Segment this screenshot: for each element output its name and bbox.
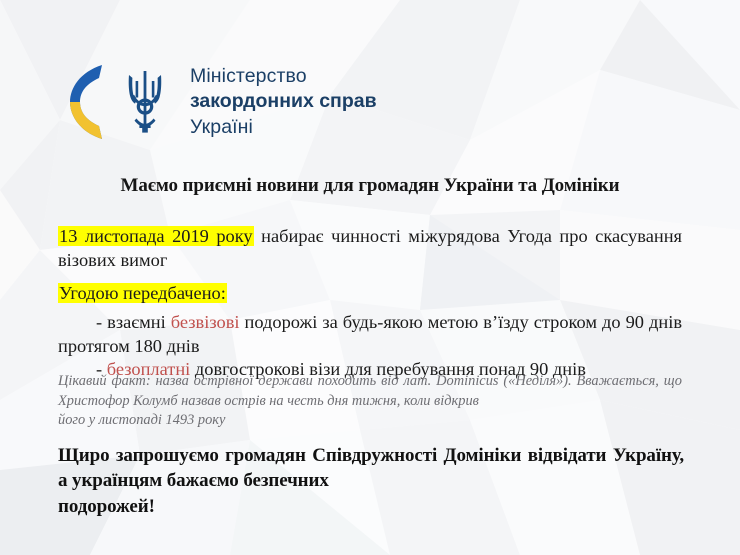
bullet-before-1: взаємні [107, 312, 171, 332]
logo-line-2: закордонних справ [190, 89, 377, 114]
page-title: Маємо приємні новини для громадян Україн… [0, 175, 740, 197]
slide-canvas: Міністерство закордонних справ Україні М… [0, 0, 740, 555]
ministry-logo: Міністерство закордонних справ Україні [66, 60, 377, 144]
fun-fact-lastline: його у листопаді 1493 року [58, 411, 682, 431]
agreement-paragraph: 13 листопада 2019 року набирає чинності … [58, 225, 682, 273]
provides-label-line: Угодою передбачено: [58, 282, 682, 306]
logo-line-3: Україні [190, 115, 377, 140]
ministry-logo-text: Міністерство закордонних справ Україні [190, 64, 377, 140]
provides-label-highlight: Угодою передбачено: [58, 283, 227, 303]
ukraine-trident-icon [123, 69, 167, 135]
agreement-date-highlight: 13 листопада 2019 року [58, 226, 254, 246]
ukraine-flag-arc-icon [66, 60, 108, 144]
bullet-accent-1: безвізові [171, 312, 240, 332]
fun-fact-note: Цікавий факт: назва острівної держави по… [58, 372, 682, 450]
closing-invitation: Щиро запрошуємо громадян Співдружності Д… [58, 443, 684, 545]
bullet-item-1: - взаємні безвізові подорожі за будь-яко… [58, 311, 682, 359]
fun-fact-body: Цікавий факт: назва острівної держави по… [58, 373, 682, 409]
logo-line-1: Міністерство [190, 64, 377, 89]
bullet-dash-1: - [96, 312, 107, 332]
closing-body: Щиро запрошуємо громадян Співдружності Д… [58, 445, 684, 491]
closing-lastline: подорожей! [58, 494, 684, 519]
